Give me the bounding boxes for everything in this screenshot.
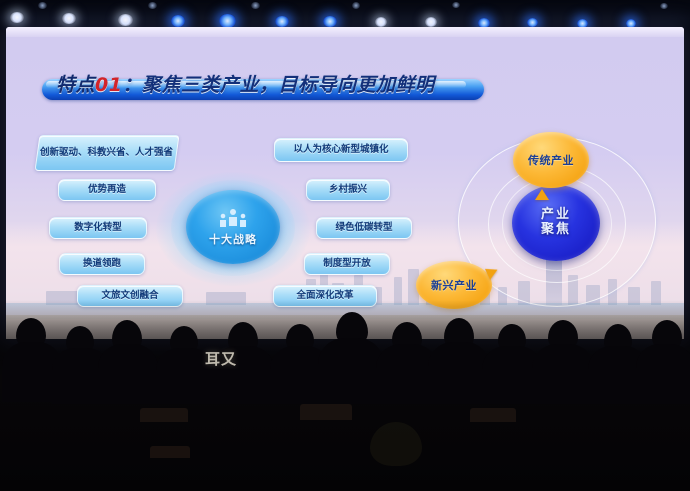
ceiling-light [375,17,387,27]
strategy-label: 以人为核心新型城镇化 [293,144,388,156]
ceiling-light [251,2,260,9]
strategy-label: 乡村振兴 [329,184,367,196]
strategy-box-right-1: 以人为核心新型城镇化 [274,138,408,162]
audience-seat [140,408,188,422]
ceiling-light [10,12,24,23]
title-rest: 聚焦三类产业，目标导向更加鲜明 [142,74,435,96]
strategy-core-label: 十大战略 [209,231,257,247]
ceiling-light [148,2,157,9]
strategy-box-left-1: 创新驱动、科教兴省、人才强省 [34,135,179,171]
audience-body [532,344,594,404]
industry-node-label: 传统产业 [528,152,574,168]
audience-seat [470,408,516,422]
page-title: 特点01：聚焦三类产业，目标导向更加鲜明 [56,70,435,97]
strategy-label: 绿色低碳转型 [335,222,392,234]
strategy-box-left-4: 换道领跑 [59,253,145,275]
ceiling-light [323,16,337,27]
ceiling-light [527,18,538,27]
ceiling-light [425,17,437,27]
ceiling-light [660,3,668,9]
audience-body [318,338,384,404]
strategy-label: 优势再造 [88,184,126,196]
industry-core-line1: 产业 [541,208,571,223]
strategy-box-left-3: 数字化转型 [49,217,147,239]
strategy-box-right-4: 制度型开放 [304,253,390,275]
ceiling-light [118,14,133,26]
industry-core-circle: 产业 聚焦 [512,185,600,261]
strategy-box-left-2: 优势再造 [58,179,156,201]
projection-screen: 特点01：聚焦三类产业，目标导向更加鲜明 创新驱动、科教兴省、人才强省 优势再造… [6,27,684,339]
strategy-core-circle: 十大战略 [186,190,280,264]
audience-seat [300,404,352,420]
strategy-label: 创新驱动、科教兴省、人才强省 [40,147,173,159]
audience-body [98,344,158,404]
conference-photo: 特点01：聚焦三类产业，目标导向更加鲜明 创新驱动、科教兴省、人才强省 优势再造… [0,0,690,491]
people-group-icon [216,208,250,230]
strategy-label: 制度型开放 [323,258,371,270]
title-separator: ： [122,74,142,96]
arrow-up-icon [535,189,549,200]
strategy-label: 数字化转型 [74,222,122,234]
ceiling [0,0,690,30]
slide-title-ribbon: 特点01：聚焦三类产业，目标导向更加鲜明 [42,70,484,100]
industry-core-line2: 聚焦 [541,223,571,238]
ceiling-light [352,2,360,9]
ceiling-light [452,2,460,8]
stage-logo: 耳又 [205,348,237,369]
strategy-box-right-3: 绿色低碳转型 [316,217,412,239]
audience-head [370,422,422,466]
ceiling-light [171,15,185,27]
strategy-box-right-2: 乡村振兴 [306,179,390,201]
industry-node-traditional: 传统产业 [513,132,589,188]
audience-area [0,300,690,491]
ceiling-light [38,2,47,9]
industry-node-label: 新兴产业 [431,277,477,293]
ceiling-light [219,14,236,28]
audience-body [636,344,690,404]
ceiling-light [62,13,76,24]
title-number: 01 [95,74,122,96]
ceiling-light [275,16,289,27]
audience-body [428,342,490,404]
audience-seat [150,446,190,458]
strategy-label: 换道领跑 [83,258,121,270]
title-prefix: 特点 [56,74,95,96]
